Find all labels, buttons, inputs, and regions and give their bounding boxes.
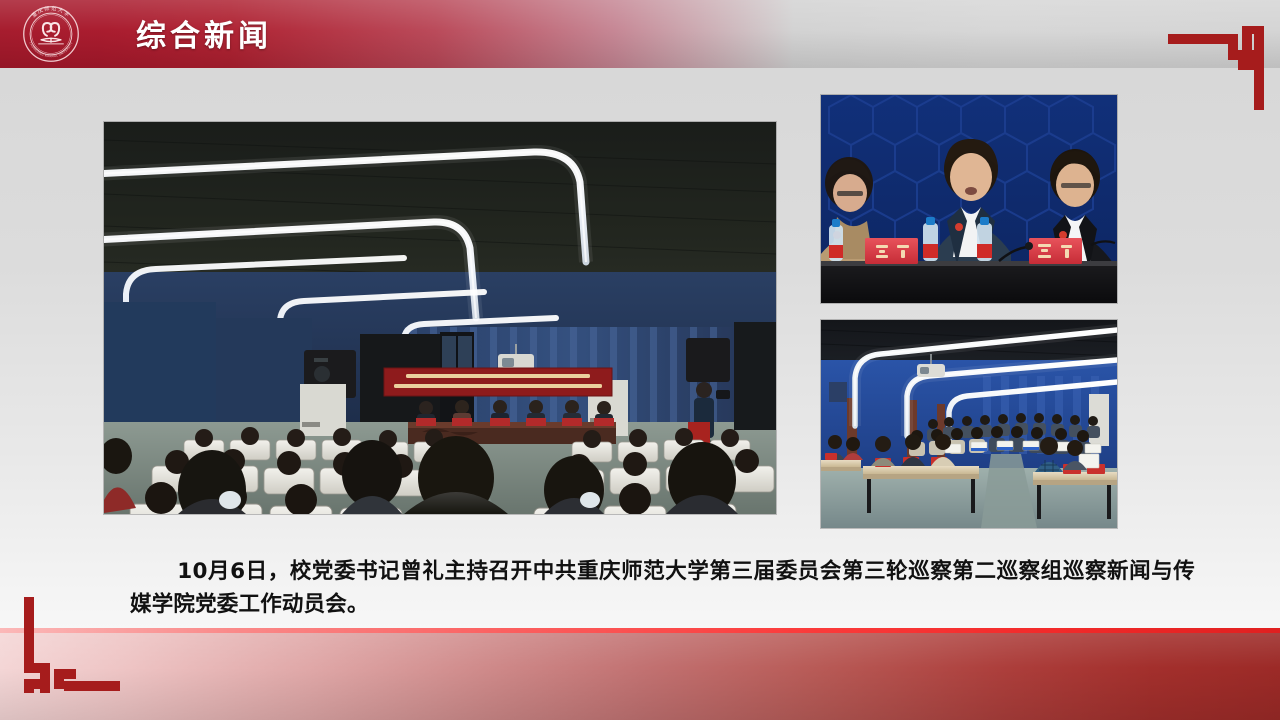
news-caption: 10月6日，校党委书记曾礼主持召开中共重庆师范大学第三届委员会第三轮巡察第二巡察… (130, 555, 1195, 621)
page-title: 综合新闻 (136, 11, 272, 55)
corner-ornament-top-right (1168, 6, 1274, 115)
nameplate-right (1029, 238, 1082, 264)
audience-room-photo (821, 320, 1117, 528)
slide-bottom-band (0, 628, 1280, 720)
corner-ornament-bottom-left (14, 597, 120, 706)
nameplate-left (865, 238, 918, 264)
caption-text: 10月6日，校党委书记曾礼主持召开中共重庆师范大学第三届委员会第三轮巡察第二巡察… (130, 559, 1195, 617)
slide-header: 重庆师范大学 CHONGQING NORMAL UNIVERSITY (0, 0, 1280, 68)
news-slide: 重庆师范大学 CHONGQING NORMAL UNIVERSITY (0, 0, 1280, 720)
university-seal-logo: 重庆师范大学 CHONGQING NORMAL UNIVERSITY (22, 5, 80, 63)
bottom-band-shade (0, 633, 1280, 720)
meeting-hall-wide-photo (104, 122, 776, 514)
leaders-panel-photo (821, 95, 1117, 303)
